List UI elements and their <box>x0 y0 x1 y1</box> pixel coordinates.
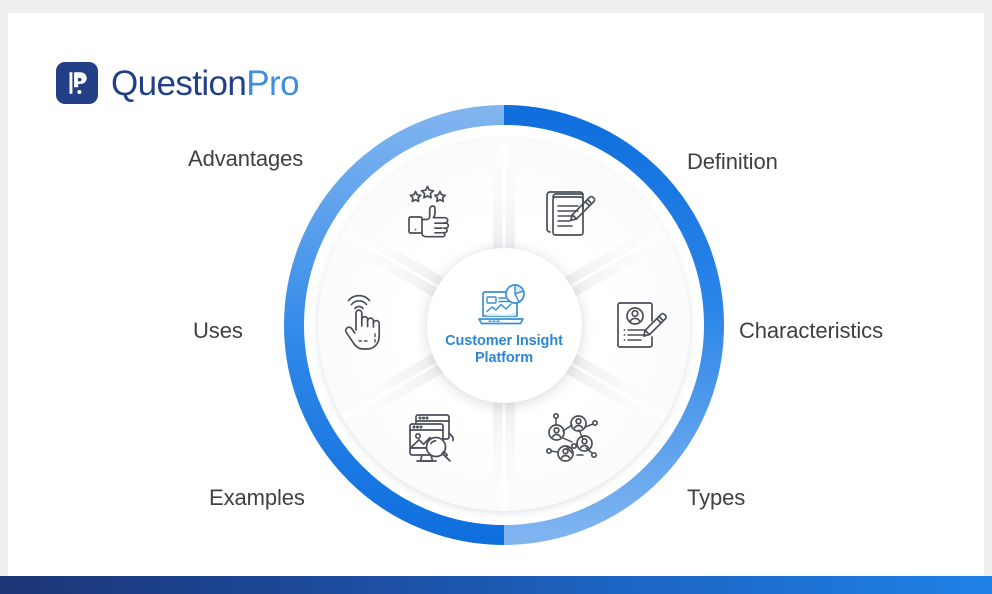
network-people-nodes-icon <box>539 405 605 471</box>
laptop-dashboard-analytics-icon <box>476 283 532 329</box>
logo-word-question: Question <box>111 64 246 103</box>
wheel-label-definition[interactable]: Definition <box>687 149 778 175</box>
monitor-image-magnifier-icon <box>402 405 468 471</box>
questionpro-logo[interactable]: QuestionPro <box>56 59 299 107</box>
notepad-pencil-icon <box>539 179 605 245</box>
logo-wordmark: QuestionPro <box>111 66 299 101</box>
wheel-label-uses[interactable]: Uses <box>193 318 243 344</box>
questionpro-p-question-mark-icon <box>56 62 98 104</box>
wheel-center-hub: Customer Insight Platform <box>427 248 582 403</box>
hand-tap-click-icon <box>333 292 399 358</box>
profile-document-pencil-icon <box>609 292 675 358</box>
wheel-label-examples[interactable]: Examples <box>209 485 305 511</box>
wheel-label-advantages[interactable]: Advantages <box>188 146 303 172</box>
footer-gradient-bar <box>0 576 992 594</box>
hub-label-line1: Customer Insight <box>445 333 563 349</box>
infographic-canvas: QuestionPro <box>0 0 992 594</box>
hub-label-line2: Platform <box>475 350 533 366</box>
hub-label: Customer Insight Platform <box>439 333 569 367</box>
segmented-wheel-diagram: Customer Insight Platform <box>279 100 729 550</box>
white-canvas: QuestionPro <box>8 13 984 576</box>
logo-word-pro: Pro <box>246 64 299 103</box>
thumbs-up-stars-icon <box>402 179 468 245</box>
wheel-label-types[interactable]: Types <box>687 485 745 511</box>
wheel-label-characteristics[interactable]: Characteristics <box>739 318 883 344</box>
